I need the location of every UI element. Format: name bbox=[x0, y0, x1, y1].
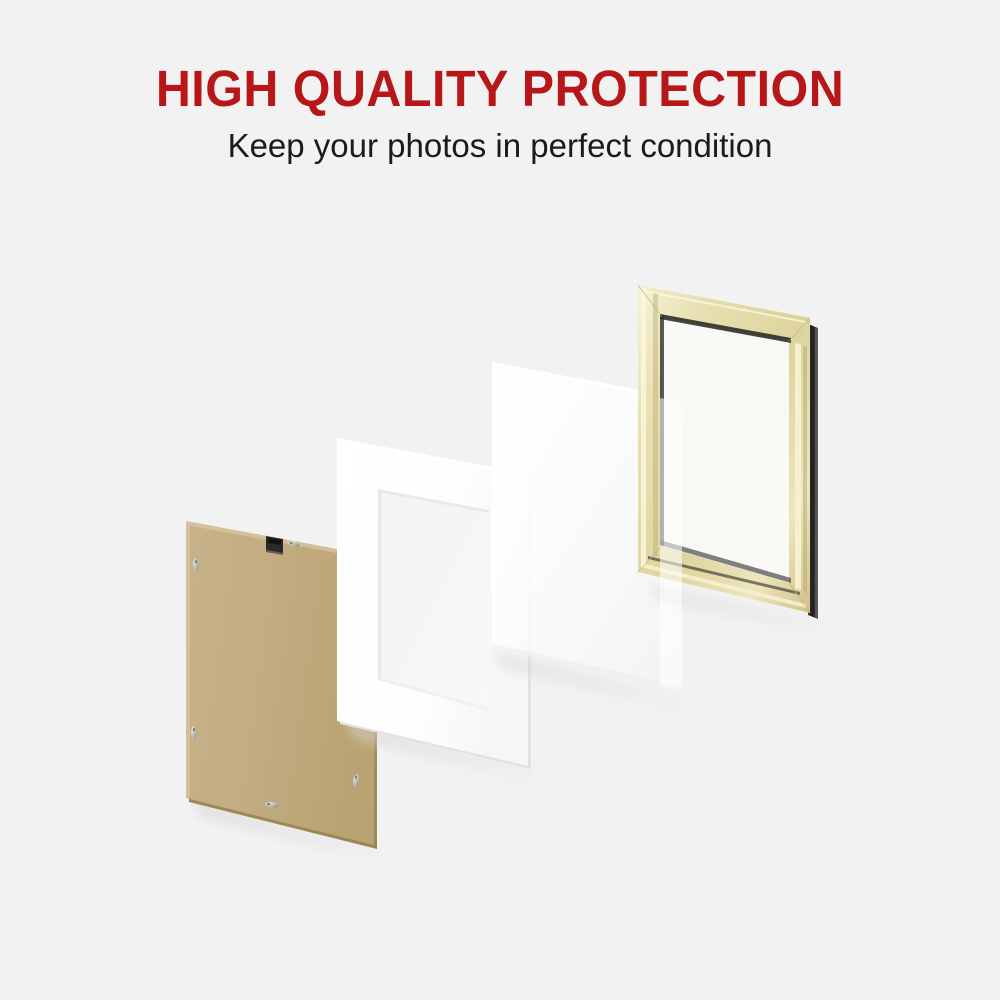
exploded-frame-illustration bbox=[0, 0, 1000, 1000]
mat-board-window-bevel-left bbox=[378, 489, 381, 681]
gold-frame-right-rail-sheen bbox=[795, 343, 801, 590]
acrylic-sheet-left-edge bbox=[492, 362, 495, 648]
product-infographic: HIGH QUALITY PROTECTION Keep your photos… bbox=[0, 0, 1000, 1000]
gold-frame-left-rail-sheen bbox=[641, 287, 646, 568]
gold-frame-side-edge-highlight bbox=[815, 327, 818, 619]
mat-board-window bbox=[378, 489, 489, 711]
acrylic-over-frame-left bbox=[660, 398, 682, 690]
backing-board-left-bevel bbox=[186, 521, 190, 798]
exploded-frame-svg bbox=[0, 0, 1000, 1000]
layer-gold-frame bbox=[638, 285, 828, 690]
gold-frame-right-rail-shadow bbox=[803, 346, 807, 593]
hanger-bracket-icon bbox=[266, 536, 283, 555]
gold-frame-left-rail-shadow bbox=[653, 293, 658, 557]
